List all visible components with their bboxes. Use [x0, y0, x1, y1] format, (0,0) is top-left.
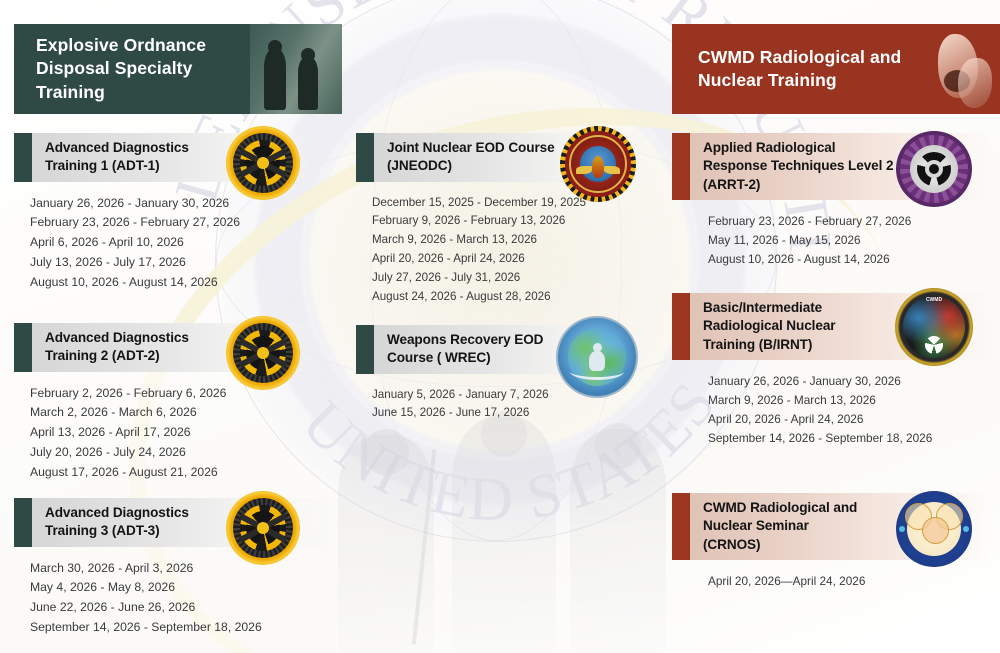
course-dates-list: December 15, 2025 - December 19, 2025 Fe… — [356, 182, 656, 307]
accent-bar — [672, 293, 690, 360]
date-row: July 13, 2026 - July 17, 2026 — [30, 253, 340, 273]
course-dates-list: February 2, 2026 - February 6, 2026 Marc… — [14, 372, 340, 483]
course-dates-list: February 23, 2026 - February 27, 2026 Ma… — [672, 200, 990, 269]
accent-bar — [356, 325, 374, 374]
cwmd-title-line-2: Nuclear Training — [698, 69, 920, 92]
radiation-eod-badge-icon — [226, 491, 300, 565]
date-row: September 14, 2026 - September 18, 2026 — [708, 429, 990, 448]
eod-title-line-1: Explosive Ordnance — [36, 34, 240, 57]
training-schedule-page: DEFENSE THREAT REDUCTION AGENCY UNITED S… — [0, 0, 1000, 653]
date-row: March 2, 2026 - March 6, 2026 — [30, 403, 340, 423]
date-row: February 2, 2026 - February 6, 2026 — [30, 384, 340, 404]
eod-title-line-2: Disposal Specialty Training — [36, 57, 240, 103]
date-row: March 9, 2026 - March 13, 2026 — [372, 231, 656, 250]
eod-banner-photo — [250, 24, 342, 114]
cwmd-section-banner: CWMD Radiological and Nuclear Training — [672, 24, 1000, 114]
course-dates-list: January 26, 2026 - January 30, 2026 Marc… — [672, 360, 990, 448]
date-row: September 14, 2026 - September 18, 2026 — [30, 618, 340, 638]
jneodc-crest-icon — [560, 126, 636, 202]
cwmd-title-line-1: CWMD Radiological and — [698, 46, 920, 69]
accent-bar — [356, 133, 374, 182]
eod-section-banner: Explosive Ordnance Disposal Specialty Tr… — [14, 24, 342, 114]
date-row: March 30, 2026 - April 3, 2026 — [30, 559, 340, 579]
date-row: May 4, 2026 - May 8, 2026 — [30, 578, 340, 598]
date-row: April 13, 2026 - April 17, 2026 — [30, 423, 340, 443]
date-row: April 20, 2026—April 24, 2026 — [708, 572, 990, 591]
cwmd-section-title: CWMD Radiological and Nuclear Training — [672, 46, 930, 92]
cwmd-banner-photo — [930, 24, 1000, 114]
soldier-figure — [452, 417, 556, 653]
date-row: August 17, 2026 - August 21, 2026 — [30, 463, 340, 483]
date-row: June 15, 2026 - June 17, 2026 — [372, 404, 656, 423]
date-row: January 26, 2026 - January 30, 2026 — [708, 372, 990, 391]
date-row: February 23, 2026 - February 27, 2026 — [30, 213, 340, 233]
date-row: August 10, 2026 - August 14, 2026 — [30, 273, 340, 293]
soldier-figure — [338, 435, 434, 653]
date-row: April 20, 2026 - April 24, 2026 — [708, 410, 990, 429]
date-row: April 6, 2026 - April 10, 2026 — [30, 233, 340, 253]
date-row: June 22, 2026 - June 26, 2026 — [30, 598, 340, 618]
radiation-eod-badge-icon — [226, 126, 300, 200]
eod-section-title: Explosive Ordnance Disposal Specialty Tr… — [14, 34, 250, 103]
radiation-eod-badge-icon — [226, 316, 300, 390]
soldiers-background-photo — [330, 395, 675, 653]
date-row: August 10, 2026 - August 14, 2026 — [708, 250, 990, 269]
soldier-figure — [570, 429, 666, 653]
badge-label: CWMD — [926, 297, 942, 303]
date-row: February 9, 2026 - February 13, 2026 — [372, 212, 656, 231]
cwmd-irnt-badge-icon: CWMD — [895, 288, 973, 366]
date-row: July 27, 2026 - July 31, 2026 — [372, 269, 656, 288]
date-row: August 24, 2026 - August 28, 2026 — [372, 288, 656, 307]
crnos-jtp-badge-icon — [896, 491, 972, 567]
arrt-radiation-badge-icon — [896, 131, 972, 207]
course-dates-list: January 26, 2026 - January 30, 2026 Febr… — [14, 182, 340, 293]
accent-bar — [14, 323, 32, 372]
date-row: July 20, 2026 - July 24, 2026 — [30, 443, 340, 463]
date-row: January 26, 2026 - January 30, 2026 — [30, 194, 340, 214]
equipment-rod — [412, 449, 436, 644]
course-dates-list: March 30, 2026 - April 3, 2026 May 4, 20… — [14, 547, 340, 638]
date-row: May 11, 2026 - May 15, 2026 — [708, 231, 990, 250]
date-row: March 9, 2026 - March 13, 2026 — [708, 391, 990, 410]
wrec-globe-badge-icon — [556, 316, 638, 398]
accent-bar — [672, 493, 690, 560]
accent-bar — [672, 133, 690, 200]
accent-bar — [14, 498, 32, 547]
date-row: April 20, 2026 - April 24, 2026 — [372, 250, 656, 269]
date-row: February 23, 2026 - February 27, 2026 — [708, 212, 990, 231]
accent-bar — [14, 133, 32, 182]
